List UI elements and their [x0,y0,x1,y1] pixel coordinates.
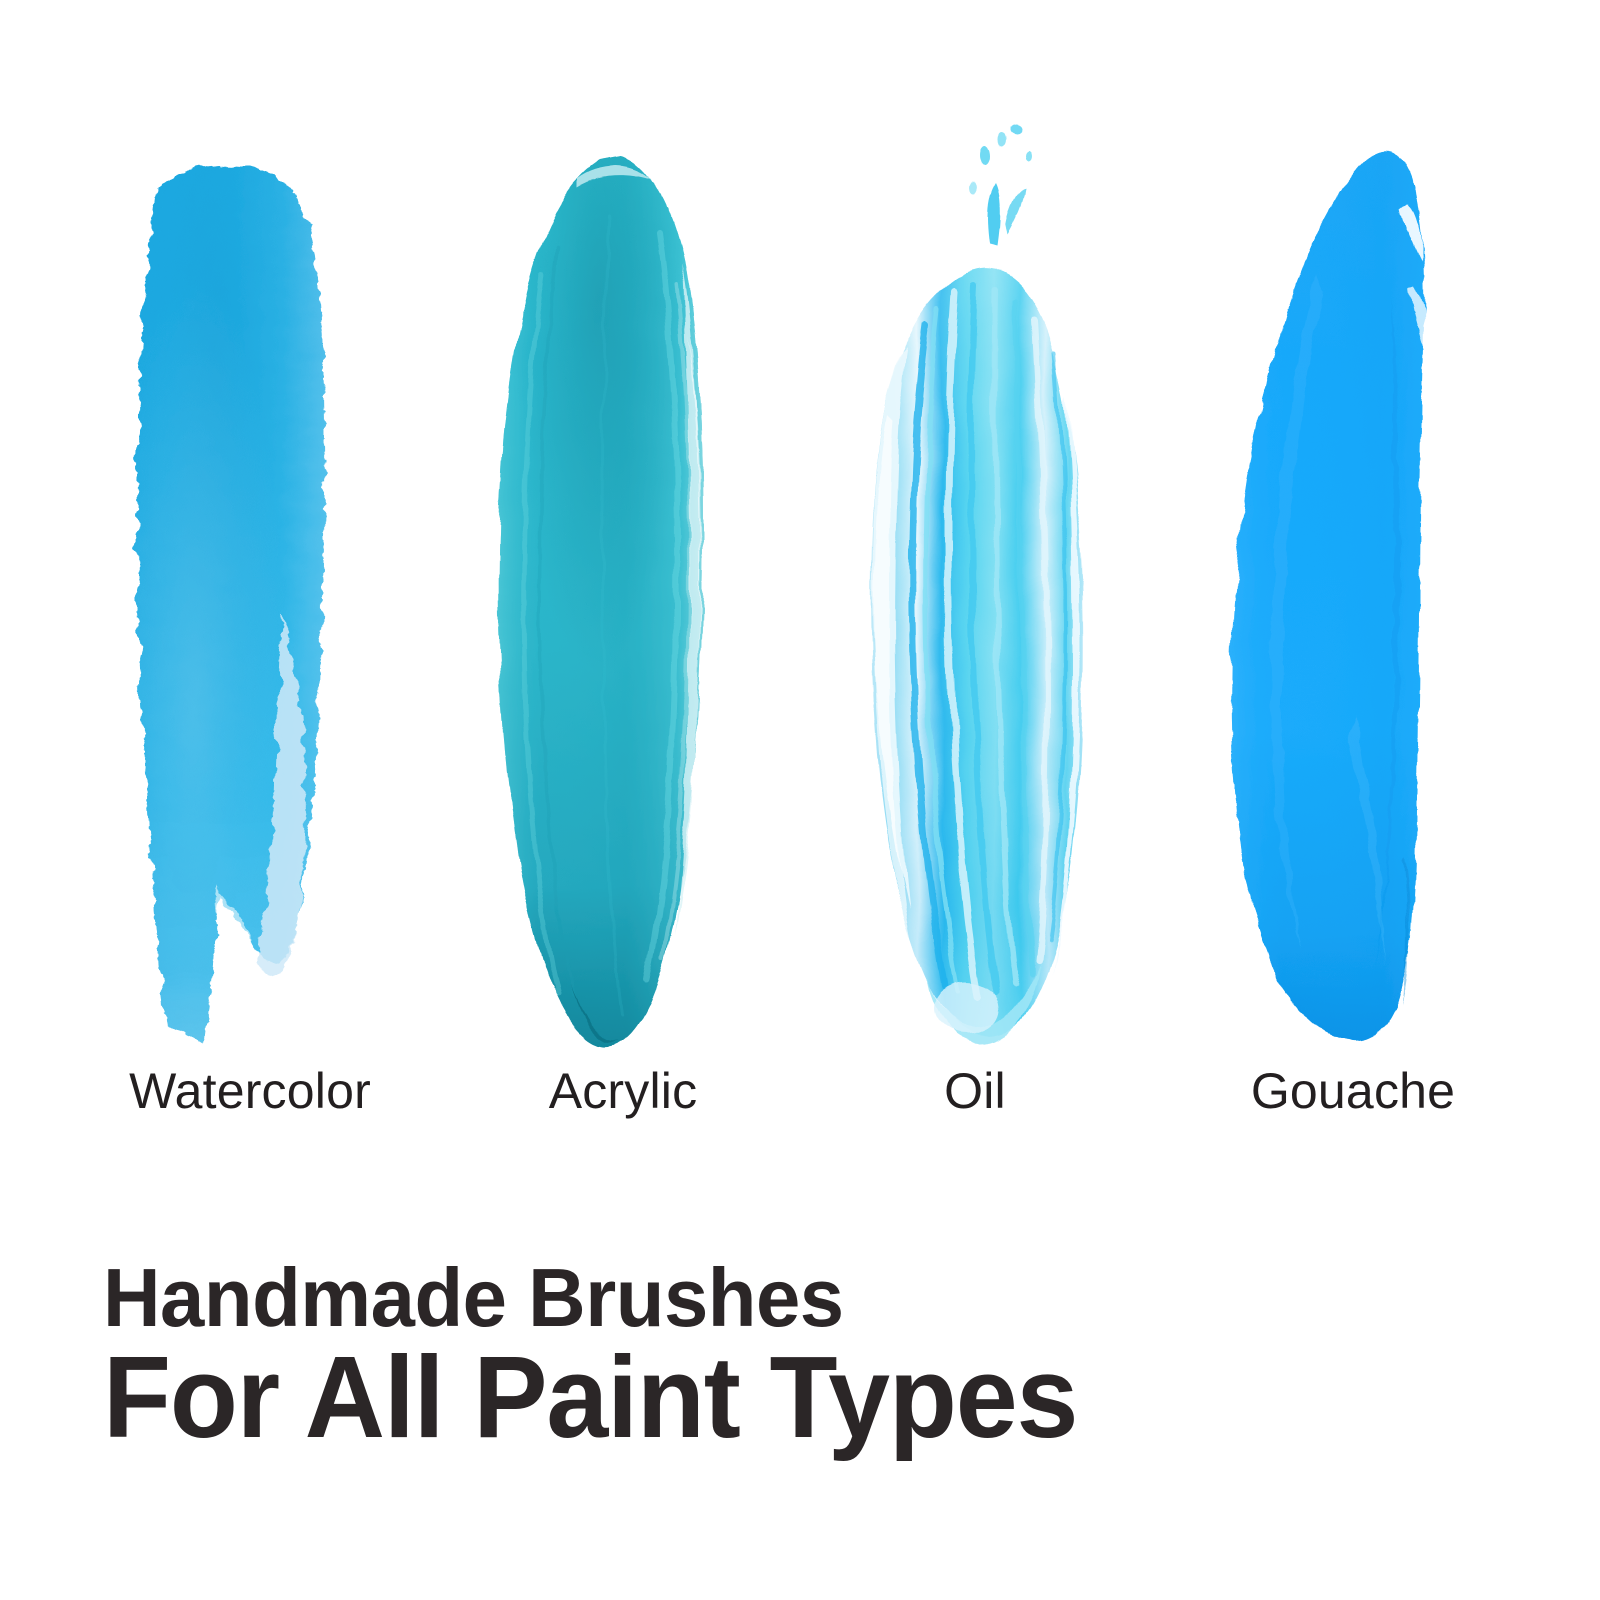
poster-canvas: Watercolor Acrylic Oil Gouache Handmade … [0,0,1600,1600]
swatch-label-watercolor: Watercolor [85,1062,415,1120]
headline-line-1: Handmade Brushes [103,1258,1447,1339]
headline-block: Handmade Brushes For All Paint Types [103,1258,1503,1453]
swatch-gouache [1165,95,1495,1055]
swatch-oil [815,95,1145,1055]
swatch-watercolor [95,95,425,1055]
oil-paint-stroke [815,95,1145,1055]
swatch-label-gouache: Gouache [1188,1062,1518,1120]
paint-swatch-row: Watercolor Acrylic Oil Gouache [0,0,1600,1140]
swatch-acrylic [450,95,780,1055]
headline-line-2: For All Paint Types [103,1341,1447,1454]
watercolor-paint-stroke [95,95,425,1055]
swatch-label-acrylic: Acrylic [458,1062,788,1120]
swatch-label-oil: Oil [810,1062,1140,1120]
gouache-paint-stroke [1165,95,1495,1055]
acrylic-paint-stroke [450,95,780,1055]
